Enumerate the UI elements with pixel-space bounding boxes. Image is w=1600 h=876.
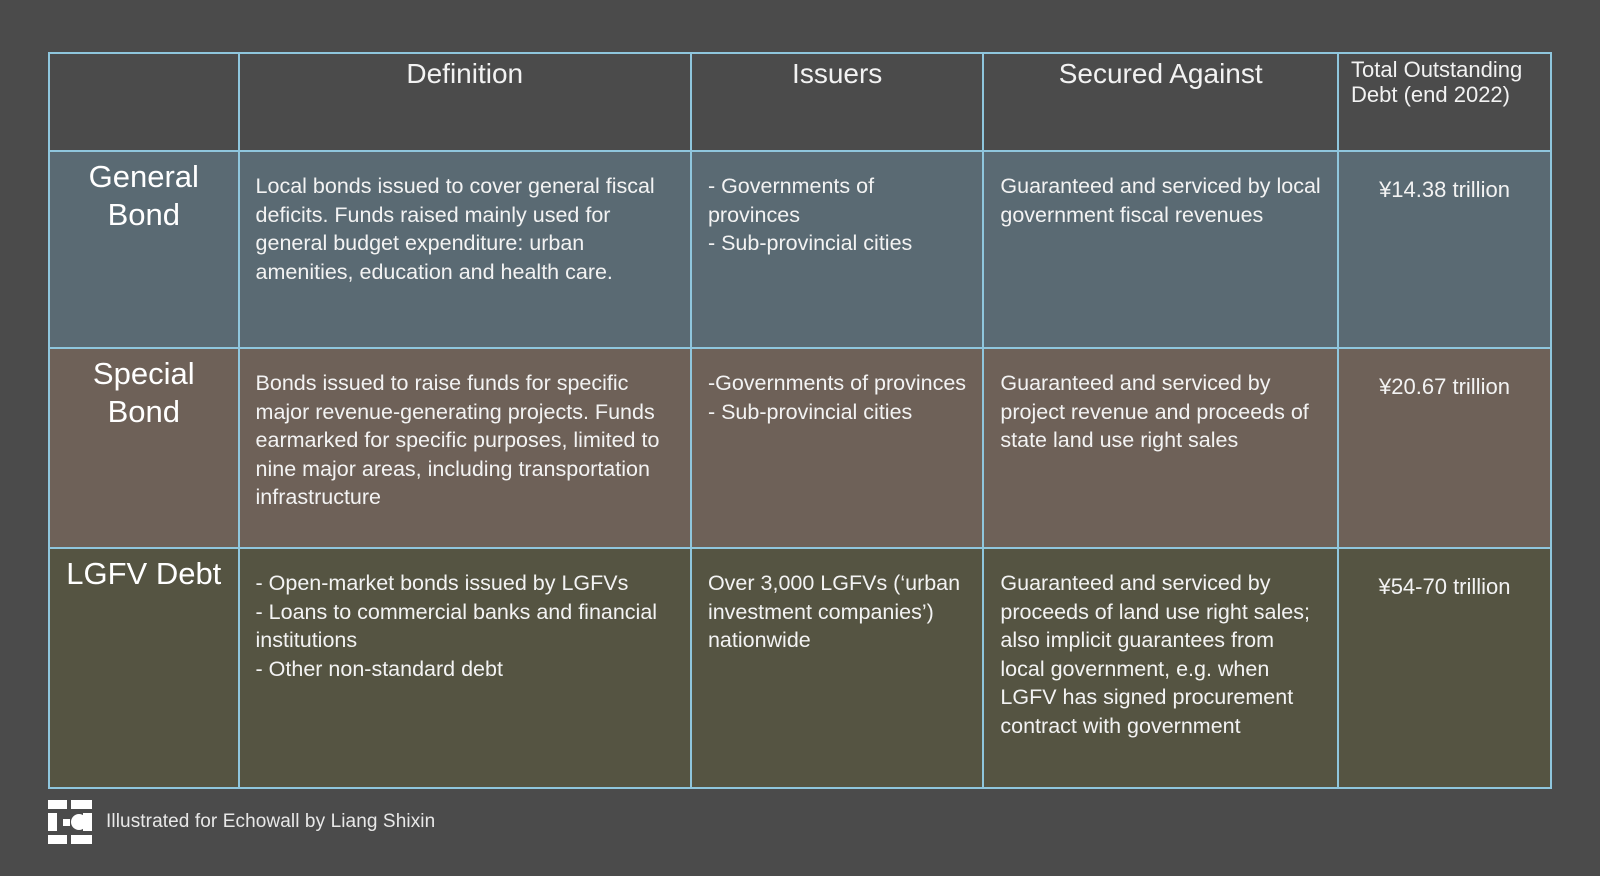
cell-debt-general-bond: ¥14.38 trillion bbox=[1338, 151, 1551, 348]
table-row-special-bond: Special Bond Bonds issued to raise funds… bbox=[49, 348, 1551, 548]
cell-secured-special-bond: Guaranteed and serviced by project reven… bbox=[983, 348, 1338, 548]
cell-category-lgfv-debt: LGFV Debt bbox=[49, 548, 239, 788]
secured-text-special-bond: Guaranteed and serviced by project reven… bbox=[984, 349, 1337, 471]
cell-debt-special-bond: ¥20.67 trillion bbox=[1338, 348, 1551, 548]
header-label-total-outstanding-debt: Total Outstanding Debt (end 2022) bbox=[1339, 54, 1550, 111]
table-row-lgfv-debt: LGFV Debt - Open-market bonds issued by … bbox=[49, 548, 1551, 788]
debt-value-lgfv-debt: ¥54-70 trillion bbox=[1339, 549, 1550, 612]
logo-block-left bbox=[48, 813, 57, 831]
header-cell-total-outstanding-debt: Total Outstanding Debt (end 2022) bbox=[1338, 53, 1551, 151]
definition-text-lgfv-debt: - Open-market bonds issued by LGFVs - Lo… bbox=[240, 549, 690, 699]
header-cell-secured-against: Secured Against bbox=[983, 53, 1338, 151]
header-cell-issuers: Issuers bbox=[691, 53, 983, 151]
logo-center-square bbox=[63, 819, 70, 826]
header-label-corner bbox=[50, 54, 238, 62]
cell-issuers-general-bond: - Governments of provinces - Sub-provinc… bbox=[691, 151, 983, 348]
definition-text-special-bond: Bonds issued to raise funds for specific… bbox=[240, 349, 690, 528]
issuers-text-lgfv-debt: Over 3,000 LGFVs (‘urban investment comp… bbox=[692, 549, 982, 671]
cell-definition-general-bond: Local bonds issued to cover general fisc… bbox=[239, 151, 691, 348]
issuers-text-general-bond: - Governments of provinces - Sub-provinc… bbox=[692, 152, 982, 274]
secured-text-lgfv-debt: Guaranteed and serviced by proceeds of l… bbox=[984, 549, 1337, 757]
header-label-secured-against: Secured Against bbox=[984, 54, 1337, 93]
table-header: Definition Issuers Secured Against Total… bbox=[49, 53, 1551, 151]
issuers-text-special-bond: -Governments of provinces - Sub-provinci… bbox=[692, 349, 982, 442]
logo-block-bottom-right bbox=[71, 835, 92, 844]
china-local-government-debt-table: Definition Issuers Secured Against Total… bbox=[48, 52, 1552, 789]
footer: Illustrated for Echowall by Liang Shixin bbox=[48, 800, 435, 844]
debt-value-special-bond: ¥20.67 trillion bbox=[1339, 349, 1550, 412]
cell-definition-special-bond: Bonds issued to raise funds for specific… bbox=[239, 348, 691, 548]
cell-category-special-bond: Special Bond bbox=[49, 348, 239, 548]
logo-block-bottom-left bbox=[48, 835, 67, 844]
table-container: Definition Issuers Secured Against Total… bbox=[48, 52, 1552, 789]
cell-secured-lgfv-debt: Guaranteed and serviced by proceeds of l… bbox=[983, 548, 1338, 788]
category-label-general-bond: General Bond bbox=[50, 152, 238, 240]
cell-issuers-special-bond: -Governments of provinces - Sub-provinci… bbox=[691, 348, 983, 548]
cell-issuers-lgfv-debt: Over 3,000 LGFVs (‘urban investment comp… bbox=[691, 548, 983, 788]
logo-center-circle bbox=[71, 814, 87, 830]
secured-text-general-bond: Guaranteed and serviced by local governm… bbox=[984, 152, 1337, 245]
debt-value-general-bond: ¥14.38 trillion bbox=[1339, 152, 1550, 215]
logo-block-top-right bbox=[71, 800, 92, 809]
header-label-issuers: Issuers bbox=[692, 54, 982, 93]
table-row-general-bond: General Bond Local bonds issued to cover… bbox=[49, 151, 1551, 348]
header-cell-corner bbox=[49, 53, 239, 151]
category-label-lgfv-debt: LGFV Debt bbox=[50, 549, 238, 599]
definition-text-general-bond: Local bonds issued to cover general fisc… bbox=[240, 152, 690, 302]
header-row: Definition Issuers Secured Against Total… bbox=[49, 53, 1551, 151]
cell-definition-lgfv-debt: - Open-market bonds issued by LGFVs - Lo… bbox=[239, 548, 691, 788]
table-body: General Bond Local bonds issued to cover… bbox=[49, 151, 1551, 788]
cell-debt-lgfv-debt: ¥54-70 trillion bbox=[1338, 548, 1551, 788]
echowall-logo-icon bbox=[48, 800, 92, 844]
category-label-special-bond: Special Bond bbox=[50, 349, 238, 437]
infographic-table-page: Definition Issuers Secured Against Total… bbox=[0, 0, 1600, 876]
cell-secured-general-bond: Guaranteed and serviced by local governm… bbox=[983, 151, 1338, 348]
header-label-definition: Definition bbox=[240, 54, 690, 93]
header-cell-definition: Definition bbox=[239, 53, 691, 151]
cell-category-general-bond: General Bond bbox=[49, 151, 239, 348]
credit-text: Illustrated for Echowall by Liang Shixin bbox=[106, 811, 435, 833]
logo-block-top-left bbox=[48, 800, 67, 809]
